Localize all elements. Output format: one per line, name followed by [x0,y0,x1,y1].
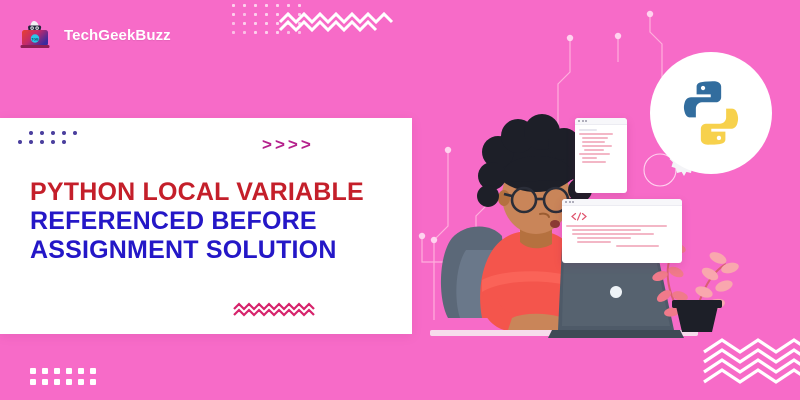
window-titlebar [562,199,682,206]
chevron-decoration: > > > > [262,136,311,153]
code-tag-icon [571,212,587,221]
chevron-right-icon-2: > [275,136,285,153]
chevron-right-icon-4: > [301,136,311,153]
code-window-large [562,199,682,263]
decor-dot-grid-bottom-left [30,368,102,390]
brand-name-label: TechGeekBuzz [64,27,171,44]
chevron-right-icon-1: > [262,136,272,153]
headline-line-3: ASSIGNMENT SOLUTION [30,236,364,265]
headline-line-2: REFERENCED BEFORE [30,207,364,236]
code-window-small [575,118,627,193]
decor-zigzag-top-right [278,8,398,42]
page-title: PYTHON LOCAL VARIABLE REFERENCED BEFORE … [30,178,364,265]
python-logo-icon [650,52,772,174]
window-titlebar [575,118,627,125]
code-lines [575,125,627,163]
developer-at-laptop-illustration [412,0,800,400]
brand-header[interactable]: TGB TechGeekBuzz [20,20,171,50]
svg-text:TGB: TGB [31,37,39,41]
card-decor-dot-grid [18,131,84,149]
chevron-right-icon-3: > [288,136,298,153]
headline-line-1: PYTHON LOCAL VARIABLE [30,178,364,207]
decor-zigzag-card [232,300,320,320]
banner-canvas: TGB TechGeekBuzz [0,0,800,400]
techgeekbuzz-penguin-logo-icon: TGB [20,20,54,50]
code-lines [562,206,682,247]
